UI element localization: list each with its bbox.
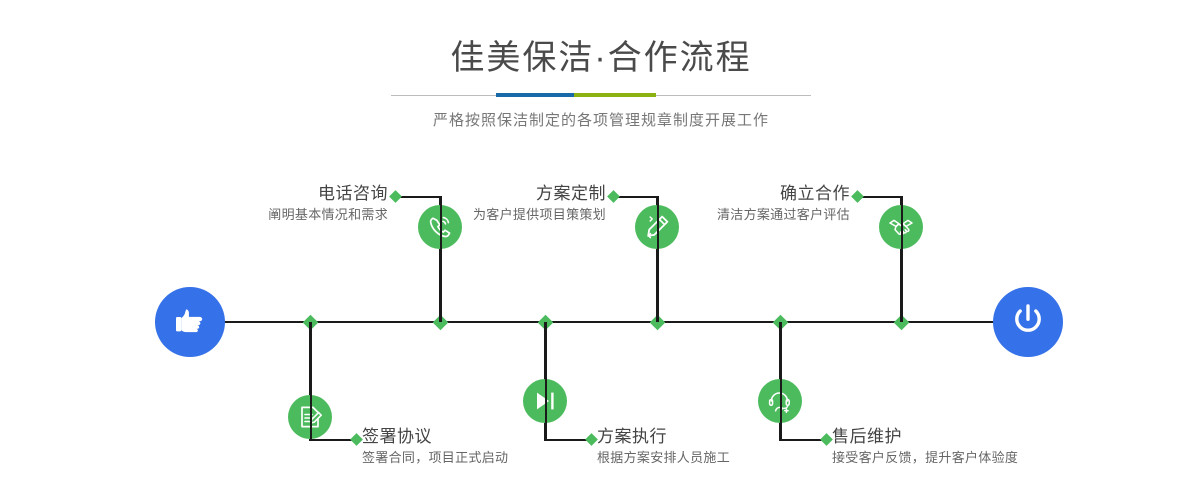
- timeline-axis: [155, 321, 1047, 323]
- step-desc-5: 清洁方案通过客户评估: [612, 205, 850, 225]
- step-title-2: 签署协议: [362, 426, 622, 448]
- step-label-5: 确立合作 清洁方案通过客户评估: [612, 183, 850, 225]
- step-desc-6: 接受客户反馈，提升客户体验度: [832, 448, 1132, 468]
- divider-green-segment: [574, 93, 656, 97]
- title-divider: [391, 90, 811, 102]
- step-title-5: 确立合作: [612, 183, 850, 205]
- step-title-1: 电话咨询: [150, 183, 388, 205]
- step-label-4: 方案执行 根据方案安排人员施工: [597, 426, 857, 468]
- step-label-2: 签署协议 签署合同，项目正式启动: [362, 426, 622, 468]
- label-drop-5: [901, 196, 903, 322]
- pointing-hand-icon: [171, 301, 209, 344]
- label-rise-6: [780, 322, 782, 441]
- timeline-start-endpoint: [155, 287, 225, 357]
- page-title: 佳美保洁·合作流程: [0, 0, 1202, 80]
- process-timeline: 电话咨询 阐明基本情况和需求 签署协议 签署合同，项目正式启动: [0, 160, 1202, 502]
- step-desc-1: 阐明基本情况和需求: [150, 205, 388, 225]
- power-icon: [1008, 300, 1048, 345]
- label-rise-4: [545, 322, 547, 441]
- step-label-6: 售后维护 接受客户反馈，提升客户体验度: [832, 426, 1132, 468]
- step-desc-3: 为客户提供项目策策划: [368, 205, 606, 225]
- page-subtitle: 严格按照保洁制定的各项管理规章制度开展工作: [0, 102, 1202, 132]
- label-diamond-5: [851, 190, 864, 203]
- step-desc-2: 签署合同，项目正式启动: [362, 448, 622, 468]
- step-label-3: 方案定制 为客户提供项目策策划: [368, 183, 606, 225]
- step-desc-4: 根据方案安排人员施工: [597, 448, 857, 468]
- label-diamond-2: [350, 433, 363, 446]
- step-title-6: 售后维护: [832, 426, 1132, 448]
- timeline-end-endpoint: [993, 287, 1063, 357]
- label-rise-2: [310, 322, 312, 441]
- page-header: 佳美保洁·合作流程 严格按照保洁制定的各项管理规章制度开展工作: [0, 0, 1202, 132]
- step-label-1: 电话咨询 阐明基本情况和需求: [150, 183, 388, 225]
- step-title-4: 方案执行: [597, 426, 857, 448]
- step-title-3: 方案定制: [368, 183, 606, 205]
- label-stub-5: [858, 196, 901, 198]
- divider-blue-segment: [496, 93, 574, 97]
